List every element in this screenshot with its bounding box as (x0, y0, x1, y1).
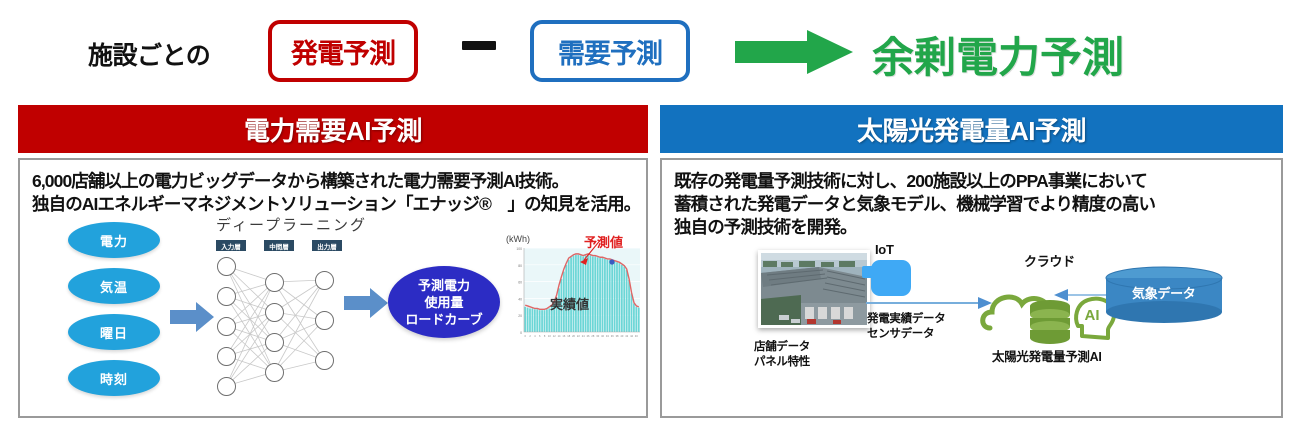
svg-text:28: 28 (591, 334, 594, 338)
svg-text:30: 30 (596, 334, 599, 338)
description-line-1: 既存の発電量予測技術に対し、200施設以上のPPA事業において (674, 170, 1273, 193)
iot-label: IoT (875, 242, 894, 257)
header-result-text: 余剰電力予測 (872, 24, 1124, 85)
svg-text:46: 46 (635, 334, 638, 338)
svg-text:AI: AI (1085, 307, 1100, 324)
description-line-3: 独自の予測技術を開発。 (674, 216, 1273, 239)
nn-node (217, 287, 236, 306)
svg-text:80: 80 (518, 264, 522, 268)
svg-text:32: 32 (601, 334, 604, 338)
svg-text:4: 4 (534, 334, 536, 338)
solar-generation-diagram: IoT 発電実績データ センサデータ 店舗データ パネル特性 クラウド (662, 240, 1281, 416)
data-flow-label-line-1: 発電実績データ (867, 312, 945, 327)
svg-text:8: 8 (544, 334, 546, 338)
store-rooftop-photo (758, 250, 870, 328)
chip-demand-forecast[interactable]: 需要予測 (530, 20, 690, 82)
svg-text:22: 22 (577, 334, 580, 338)
svg-text:42: 42 (625, 334, 628, 338)
load-curve-plot: 1008060402000246810121416182022242628303… (506, 236, 644, 348)
svg-text:36: 36 (611, 334, 614, 338)
nn-node (265, 303, 284, 322)
site-data-label-line-1: 店舗データ (754, 340, 810, 355)
slide-root: 施設ごとの 発電予測 需要予測 余剰電力予測 電力需要AI予測 6,000店舗以… (0, 0, 1301, 439)
cloud-label: クラウド (1024, 254, 1075, 269)
description-line-2: 蓄積された発電データと気象モデル、機械学習でより精度の高い (674, 193, 1273, 216)
nn-node (265, 273, 284, 292)
input-feature-weekday: 曜日 (68, 314, 160, 350)
svg-text:16: 16 (562, 334, 565, 338)
output-oval-line-3: ロードカーブ (405, 311, 482, 328)
nn-node (315, 311, 334, 330)
data-flow-label-line-2: センサデータ (867, 327, 945, 342)
data-flow-arrow-icon (866, 296, 992, 310)
chart-y-unit-label: (kWh) (506, 234, 530, 244)
svg-text:20: 20 (518, 314, 522, 318)
minus-operator-icon (462, 41, 496, 50)
svg-text:0: 0 (524, 334, 526, 338)
svg-text:20: 20 (572, 334, 575, 338)
chip-demand-forecast-label: 需要予測 (558, 32, 662, 71)
svg-text:40: 40 (620, 334, 623, 338)
svg-text:40: 40 (518, 297, 522, 301)
data-flow-label: 発電実績データ センサデータ (867, 312, 945, 342)
nn-node (217, 347, 236, 366)
nn-node (217, 377, 236, 396)
iot-device-icon (871, 260, 911, 296)
svg-text:100: 100 (516, 247, 522, 251)
output-load-curve-oval: 予測電力 使用量 ロードカーブ (388, 266, 500, 338)
svg-text:24: 24 (582, 334, 585, 338)
header-lead-text: 施設ごとの (88, 36, 210, 72)
load-curve-chart: (kWh) 予測値 実績値 10080604020002468101214161… (506, 236, 644, 348)
chip-generation-forecast-label: 発電予測 (291, 32, 395, 71)
panel-solar-generation-title: 太陽光発電量AI予測 (660, 105, 1283, 153)
neural-network-graphic (212, 250, 342, 400)
output-oval-line-1: 予測電力 (418, 277, 470, 294)
panel-solar-generation-description: 既存の発電量予測技術に対し、200施設以上のPPA事業において 蓄積された発電デ… (674, 170, 1273, 239)
chip-generation-forecast[interactable]: 発電予測 (268, 20, 418, 82)
panel-power-demand: 電力需要AI予測 6,000店舗以上の電力ビッグデータから構築された電力需要予測… (18, 105, 648, 418)
svg-text:44: 44 (630, 334, 633, 338)
svg-text:26: 26 (587, 334, 590, 338)
nn-node (315, 351, 334, 370)
panel-power-demand-description: 6,000店舗以上の電力ビッグデータから構築された電力需要予測AI技術。 独自の… (32, 170, 638, 216)
nn-node (217, 317, 236, 336)
svg-text:2: 2 (529, 334, 531, 338)
chart-actual-annotation: 実績値 (550, 294, 589, 313)
svg-text:18: 18 (567, 334, 570, 338)
nn-node (265, 333, 284, 352)
panel-power-demand-body: 6,000店舗以上の電力ビッグデータから構築された電力需要予測AI技術。 独自の… (18, 158, 648, 418)
flow-arrow-inputs-to-network-icon (170, 302, 214, 332)
header-formula: 施設ごとの 発電予測 需要予測 余剰電力予測 (0, 0, 1301, 100)
output-oval-line-2: 使用量 (424, 294, 463, 311)
input-feature-power: 電力 (68, 222, 160, 258)
svg-text:12: 12 (553, 334, 556, 338)
svg-text:38: 38 (616, 334, 619, 338)
description-line-2: 独自のAIエネルギーマネジメントソリューション「エナッジ® 」の知見を活用。 (32, 193, 638, 216)
site-data-label-line-2: パネル特性 (754, 355, 810, 370)
svg-text:0: 0 (520, 331, 522, 335)
weather-database-label: 気象データ (1132, 286, 1196, 301)
panel-power-demand-title: 電力需要AI予測 (18, 105, 648, 153)
description-line-1: 6,000店舗以上の電力ビッグデータから構築された電力需要予測AI技術。 (32, 170, 638, 193)
svg-text:34: 34 (606, 334, 609, 338)
svg-text:6: 6 (539, 334, 541, 338)
nn-node (217, 257, 236, 276)
deep-learning-title: ディープラーニング (216, 214, 367, 235)
right-arrow-icon (735, 30, 853, 74)
input-feature-list: 電力 気温 曜日 時刻 (68, 222, 160, 406)
power-demand-diagram: 電力 気温 曜日 時刻 ディープラーニング 入力層 中間層 出力層 (20, 218, 646, 416)
solar-forecast-ai-label: 太陽光発電量予測AI (992, 350, 1102, 365)
panel-solar-generation: 太陽光発電量AI予測 既存の発電量予測技術に対し、200施設以上のPPA事業にお… (660, 105, 1283, 418)
flow-arrow-network-to-output-icon (344, 288, 388, 318)
input-feature-time: 時刻 (68, 360, 160, 396)
svg-text:10: 10 (548, 334, 551, 338)
nn-node (315, 271, 334, 290)
nn-node (265, 363, 284, 382)
chart-predicted-annotation: 予測値 (584, 232, 623, 251)
input-feature-temperature: 気温 (68, 268, 160, 304)
panel-solar-generation-body: 既存の発電量予測技術に対し、200施設以上のPPA事業において 蓄積された発電デ… (660, 158, 1283, 418)
site-data-label: 店舗データ パネル特性 (754, 340, 810, 370)
svg-text:14: 14 (558, 334, 561, 338)
svg-text:60: 60 (518, 281, 522, 285)
